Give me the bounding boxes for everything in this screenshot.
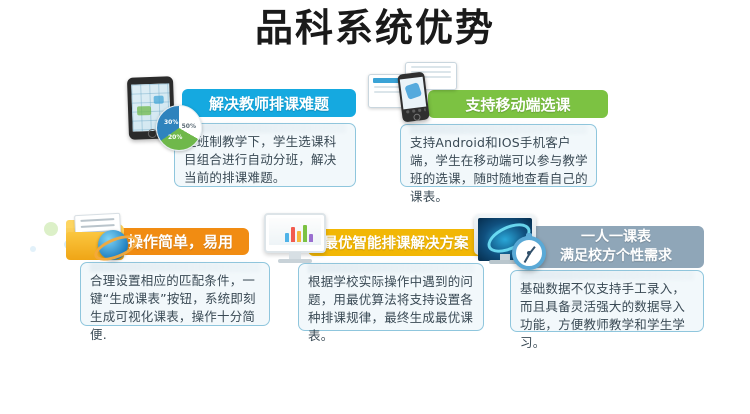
tablet-screen-block-green — [137, 106, 151, 115]
card-teacher-scheduling-header-text: 解决教师排课难题 — [209, 93, 329, 114]
imac-screen — [269, 218, 321, 245]
chart-bar — [291, 227, 295, 242]
imac-icon — [264, 213, 326, 265]
card-body-top-glow — [184, 123, 346, 133]
imac-frame — [264, 213, 326, 253]
phone-screen — [400, 77, 426, 110]
card-personal-timetable: 一人一课表 满足校方个性需求 基础数据不仅支持手工录入，而且具备灵活强大的数据导… — [472, 212, 704, 332]
pie-label-1: 30% — [164, 119, 178, 126]
clock-icon — [512, 236, 546, 270]
folder-documents-globe-icon — [56, 206, 142, 276]
pie-label-2: 20% — [168, 134, 182, 141]
card-easy-to-use-header-text: 操作简单，易用 — [128, 231, 233, 252]
card-personal-timetable-body-text: 基础数据不仅支持手工录入，而且具备灵活强大的数据导入功能，方便教师教学和学生学习… — [520, 281, 685, 350]
card-optimal-scheduling-header: 最优智能排课解决方案 — [308, 229, 484, 256]
card-mobile-course-selection-header-text: 支持移动端选课 — [465, 94, 570, 115]
monitor-clock-icon — [472, 212, 562, 278]
card-easy-to-use: 操作简单，易用 合理设置相应的匹配条件，一键“生成课表”按钮，系统即刻生成可视化… — [56, 206, 280, 326]
card-teacher-scheduling-header: 解决教师排课难题 — [182, 89, 356, 117]
chart-bar — [285, 233, 289, 242]
clock-knob — [526, 233, 532, 237]
card-personal-timetable-body: 基础数据不仅支持手工录入，而且具备灵活强大的数据导入功能，方便教师教学和学生学习… — [510, 270, 704, 332]
globe-browser-icon — [98, 230, 128, 260]
clock-center-dot — [527, 251, 531, 255]
document-line — [81, 224, 115, 228]
card-mobile-course-selection-body-text: 支持Android和IOS手机客户端，学生在移动端可以参与教学班的选课，随时随地… — [410, 135, 588, 204]
card-optimal-scheduling-header-text: 最优智能排课解决方案 — [324, 232, 469, 253]
chart-bar — [297, 231, 301, 242]
chart-bar — [303, 225, 307, 242]
card-optimal-scheduling: 最优智能排课解决方案 根据学校实际操作中遇到的问题，用最优算法将支持设置各种排课… — [264, 211, 484, 331]
card-mobile-course-selection: 支持移动端选课 支持Android和IOS手机客户端，学生在移动端可以参与教学班… — [368, 62, 608, 187]
tablet-pie-chart-icon: 50% 30% 20% — [128, 75, 204, 153]
card-teacher-scheduling-body-text: 走班制教学下，学生选课科目组合进行自动分班，解决当前的排课难题。 — [184, 134, 336, 185]
card-optimal-scheduling-body: 根据学校实际操作中遇到的问题，用最优算法将支持设置各种排课规律，最终生成最优课表… — [298, 263, 484, 331]
chart-bar — [309, 234, 313, 242]
phone-screen-shape — [404, 82, 422, 100]
imac-base — [278, 259, 312, 263]
card-easy-to-use-body-text: 合理设置相应的匹配条件，一键“生成课表”按钮，系统即刻生成可视化课表，操作十分简… — [90, 273, 256, 342]
window-line — [411, 66, 451, 68]
imac-screen-chart — [285, 225, 313, 242]
tablet-screen-block-blue — [154, 96, 164, 104]
card-personal-timetable-header-line-1: 一人一课表 — [581, 228, 651, 247]
document-line — [80, 218, 114, 222]
card-teacher-scheduling: 50% 30% 20% 解决教师排课难题 走班制教学下，学生选课科目组合进行自动… — [128, 75, 356, 187]
pie-chart-icon: 50% 30% 20% — [156, 105, 202, 151]
page-title: 品科系统优势 — [0, 2, 750, 54]
card-optimal-scheduling-body-text: 根据学校实际操作中遇到的问题，用最优算法将支持设置各种排课规律，最终生成最优课表… — [308, 274, 473, 343]
pie-label-0: 50% — [182, 123, 196, 130]
smartphone-laptop-icon — [368, 62, 458, 142]
imac-monitor-chart-icon — [264, 213, 334, 273]
phone-home-button — [413, 113, 421, 121]
decorative-dot-blue-small — [30, 246, 36, 252]
card-personal-timetable-header-line-2: 满足校方个性需求 — [560, 247, 672, 266]
smartphone-icon — [397, 72, 430, 123]
